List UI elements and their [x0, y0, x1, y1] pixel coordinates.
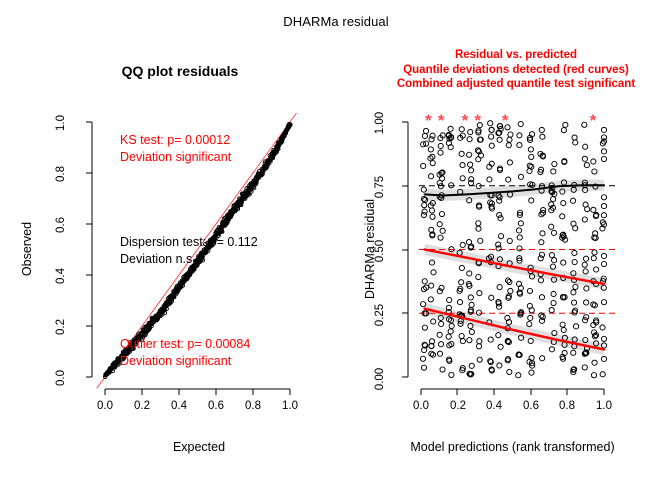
- qq-x-tick-label: 0.6: [201, 400, 231, 412]
- qq-x-axis-ticks: [105, 389, 290, 395]
- ks-test-line2: Deviation significant: [120, 149, 231, 166]
- residual-x-axis-label: Model predictions (rank transformed): [390, 440, 635, 454]
- qq-x-tick-label: 0.0: [90, 400, 120, 412]
- residual-x-tick-label: 1.0: [589, 400, 619, 412]
- residual-x-tick-label: 0.6: [516, 400, 546, 412]
- svg-text:*: *: [462, 111, 469, 130]
- residual-x-axis-ticks: [421, 389, 604, 395]
- svg-text:*: *: [438, 111, 445, 130]
- ks-test-annotation: KS test: p= 0.00012 Deviation significan…: [120, 132, 231, 165]
- outlier-test-line1: Outlier test: p= 0.00084: [120, 336, 250, 353]
- dispersion-test-line2: Deviation n.s.: [120, 251, 258, 268]
- residual-x-tick-label: 0.0: [406, 400, 436, 412]
- residual-x-tick-label: 0.2: [443, 400, 473, 412]
- svg-text:*: *: [474, 111, 481, 130]
- qq-x-axis-label: Expected: [104, 440, 294, 454]
- qq-x-tick-label: 0.4: [164, 400, 194, 412]
- residual-y-axis-ticks: [402, 122, 408, 377]
- qq-x-tick-label: 0.2: [127, 400, 157, 412]
- dispersion-test-line1: Dispersion test: p= 0.112: [120, 234, 258, 251]
- dispersion-test-annotation: Dispersion test: p= 0.112 Deviation n.s.: [120, 234, 258, 267]
- svg-text:*: *: [425, 111, 432, 130]
- outlier-test-annotation: Outlier test: p= 0.00084 Deviation signi…: [120, 336, 250, 369]
- svg-text:*: *: [590, 111, 597, 130]
- significance-markers: ******: [425, 111, 597, 130]
- svg-text:*: *: [502, 111, 509, 130]
- outlier-test-line2: Deviation significant: [120, 353, 250, 370]
- qq-y-axis-ticks: [86, 122, 92, 377]
- residual-plot-canvas: ******: [336, 0, 672, 400]
- qq-x-tick-label: 1.0: [275, 400, 305, 412]
- residual-x-tick-label: 0.4: [479, 400, 509, 412]
- dharma-residual-figure: DHARMa residual QQ plot residuals Observ…: [0, 0, 672, 480]
- ks-test-line1: KS test: p= 0.00012: [120, 132, 231, 149]
- residual-x-tick-label: 0.8: [552, 400, 582, 412]
- qq-x-tick-label: 0.8: [238, 400, 268, 412]
